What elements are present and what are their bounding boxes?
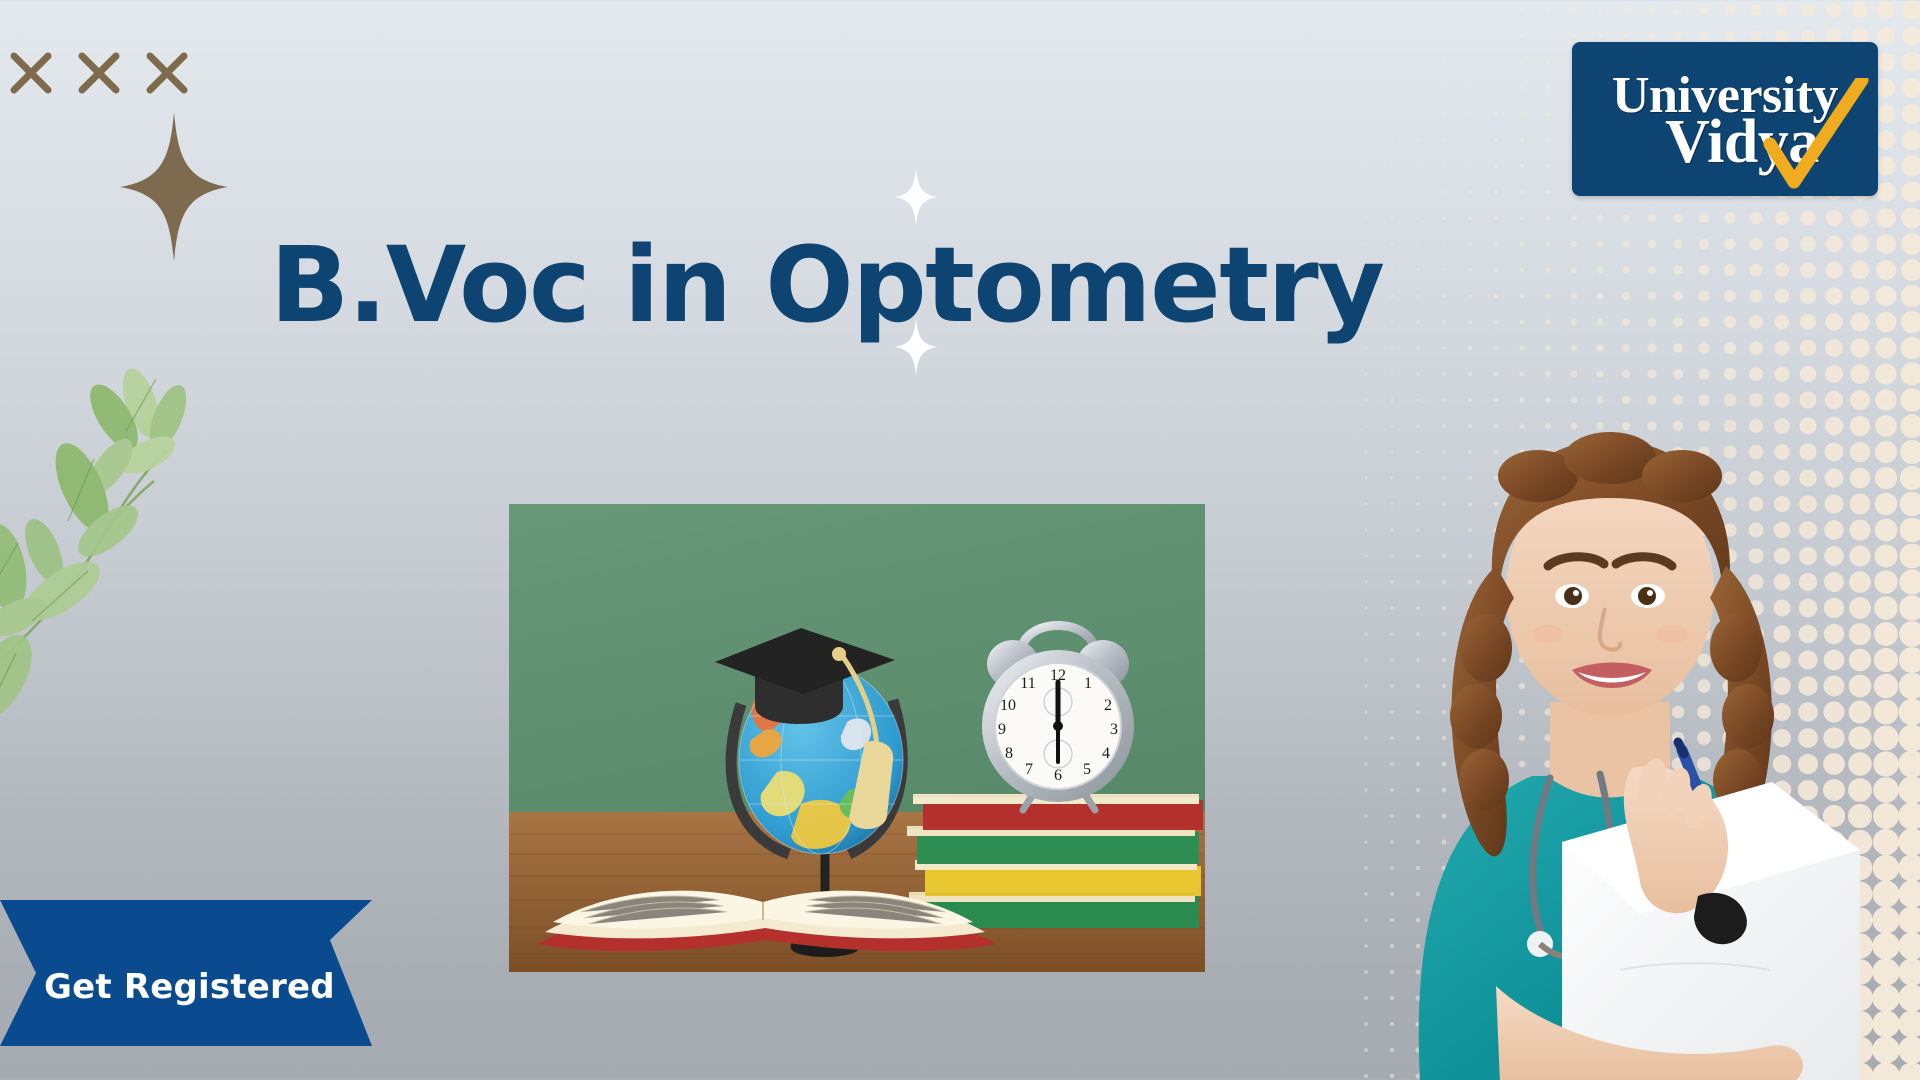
get-registered-label: Get Registered xyxy=(44,967,335,1007)
x-mark-icon xyxy=(150,56,184,90)
x-mark-icon xyxy=(82,56,116,90)
svg-text:9: 9 xyxy=(998,721,1006,738)
svg-text:10: 10 xyxy=(1000,697,1016,714)
svg-text:2: 2 xyxy=(1104,697,1112,714)
svg-text:4: 4 xyxy=(1102,745,1110,762)
x-mark-icon xyxy=(14,56,48,90)
page-title: B.Voc in Optometry xyxy=(270,232,1420,338)
svg-text:7: 7 xyxy=(1025,761,1033,778)
checkmark-icon xyxy=(1750,78,1870,196)
student-photo xyxy=(1300,330,1920,1080)
svg-text:3: 3 xyxy=(1110,721,1118,738)
svg-text:11: 11 xyxy=(1020,675,1035,692)
svg-text:6: 6 xyxy=(1054,767,1062,784)
university-vidya-logo[interactable]: University Vidya xyxy=(1572,42,1878,196)
four-point-star-icon xyxy=(120,112,228,267)
leaf-branch-decoration xyxy=(0,355,200,800)
svg-text:5: 5 xyxy=(1083,761,1091,778)
study-desk-photo: 121 23 45 67 89 1011 xyxy=(509,504,1205,972)
x-mark-icon-group xyxy=(8,48,198,113)
sparkle-icon xyxy=(895,168,937,231)
svg-text:1: 1 xyxy=(1084,675,1092,692)
svg-text:8: 8 xyxy=(1005,745,1013,762)
